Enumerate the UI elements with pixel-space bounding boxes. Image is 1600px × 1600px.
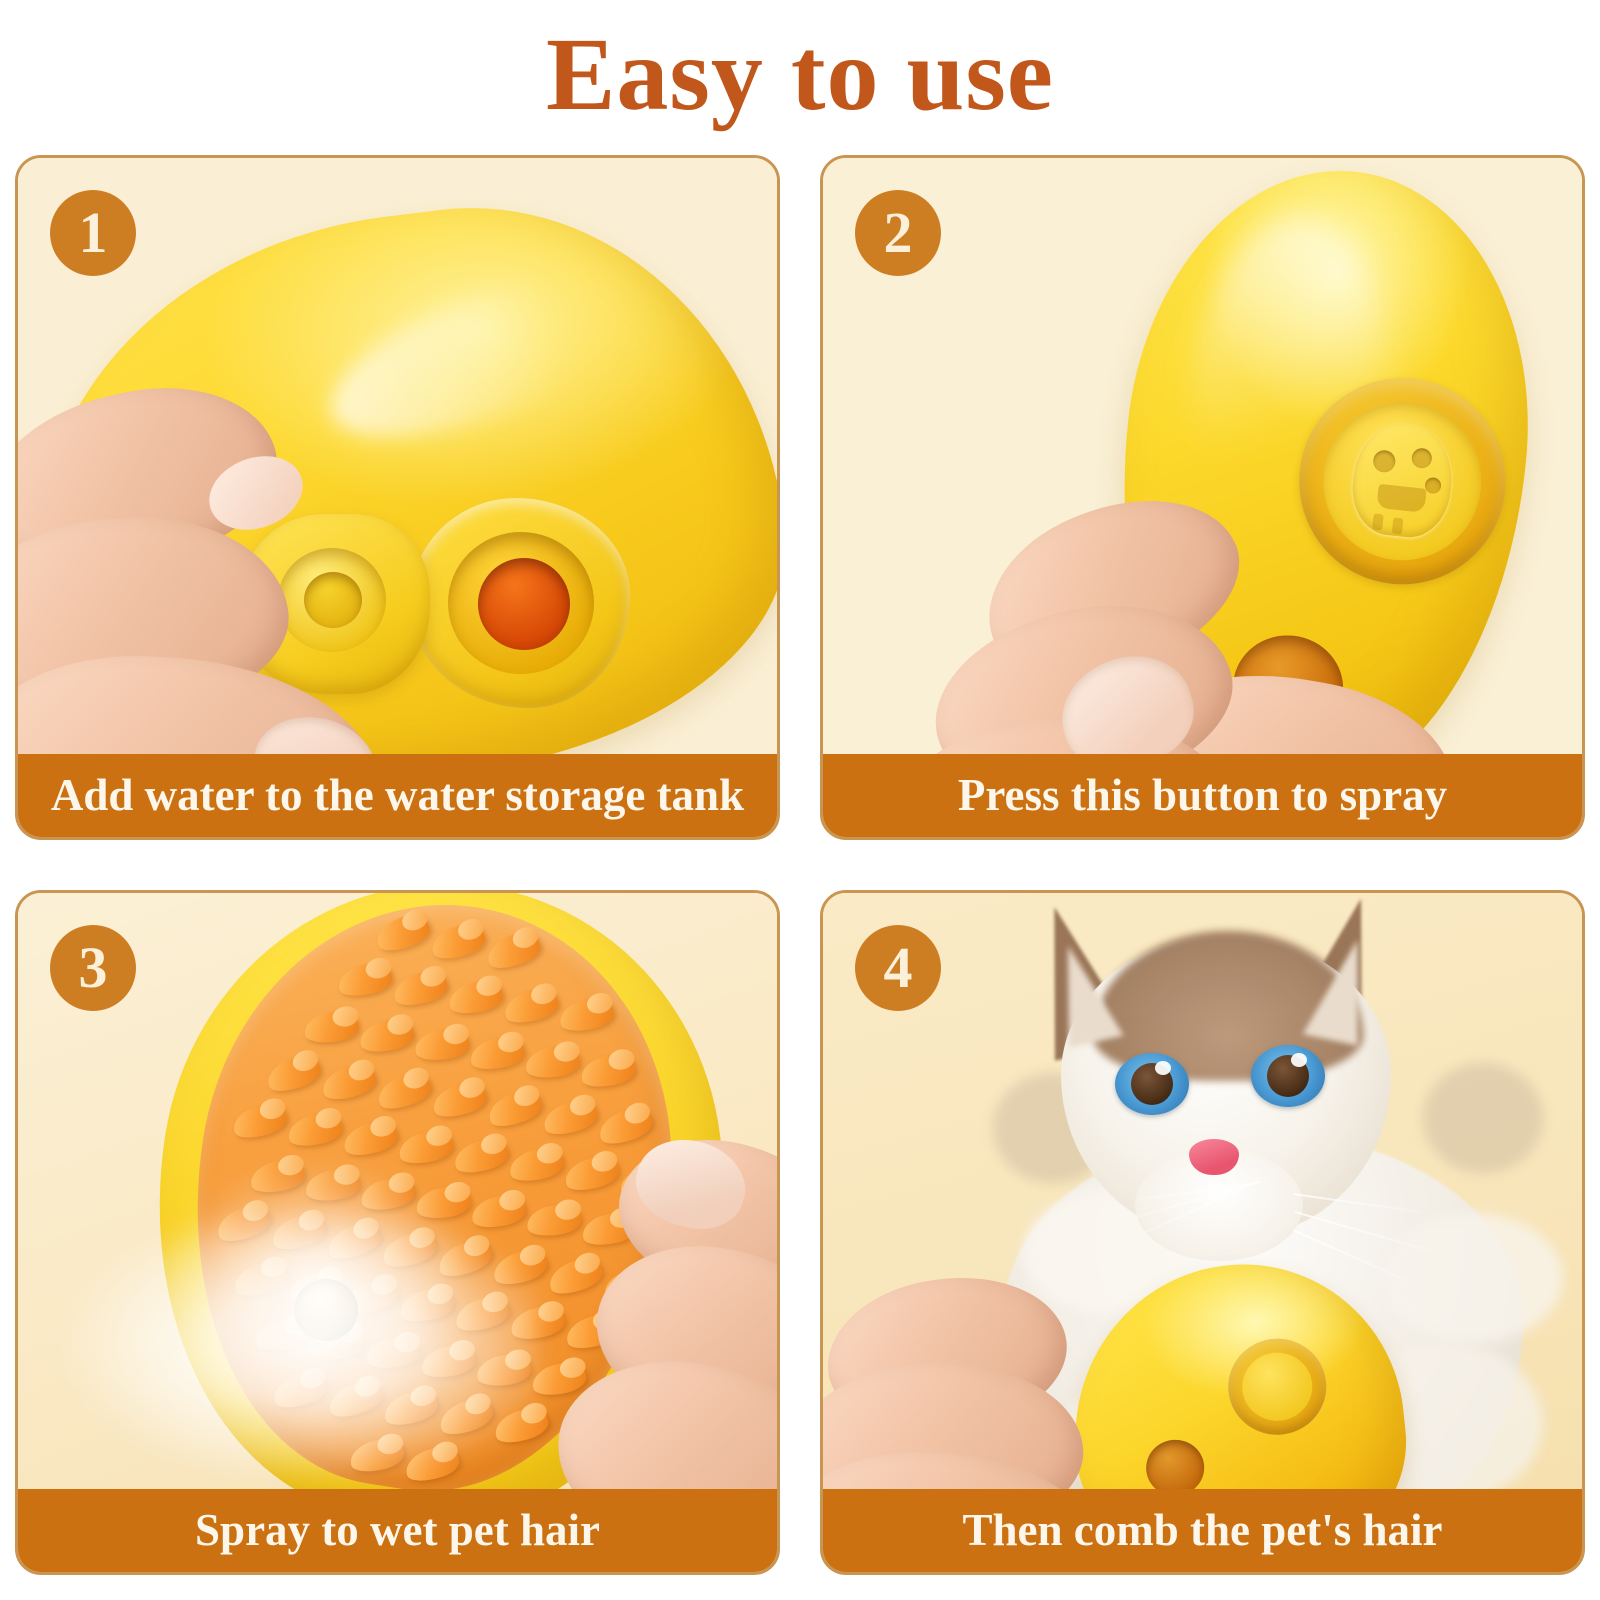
face-mouth bbox=[1376, 484, 1426, 513]
amber-press-button bbox=[1143, 1437, 1207, 1495]
silicone-bristle bbox=[357, 1015, 416, 1056]
silicone-bristle bbox=[483, 927, 544, 974]
step-panel-4: 4 Then comb the pet's hair bbox=[820, 890, 1585, 1575]
step-number-badge-4: 4 bbox=[855, 925, 941, 1011]
step-number-badge-3: 3 bbox=[50, 925, 136, 1011]
cat-fur bbox=[1423, 1063, 1543, 1173]
silicone-bristle bbox=[446, 976, 506, 1018]
step-caption-1: Add water to the water storage tank bbox=[18, 754, 777, 837]
body-highlight bbox=[311, 240, 662, 470]
silicone-bristle bbox=[578, 1050, 637, 1091]
steps-grid: 1 Add water to the water storage tank bbox=[15, 155, 1585, 1585]
silicone-bristle bbox=[595, 1103, 656, 1150]
step-panel-3: 3 Spray to wet pet hair bbox=[15, 890, 780, 1575]
step-caption-3: Spray to wet pet hair bbox=[18, 1489, 777, 1572]
step-panel-1: 1 Add water to the water storage tank bbox=[15, 155, 780, 840]
silicone-bristle bbox=[540, 1095, 601, 1140]
silicone-bristle bbox=[529, 1358, 588, 1399]
spray-button bbox=[1224, 1334, 1331, 1440]
silicone-bristle bbox=[501, 984, 561, 1028]
embossed-cartoon-face-icon bbox=[1348, 419, 1457, 541]
silicone-bristle bbox=[335, 959, 395, 1001]
step-caption-2: Press this button to spray bbox=[823, 754, 1582, 837]
silicone-bristle bbox=[545, 1253, 606, 1300]
face-eye bbox=[1424, 477, 1442, 495]
steam-cloud bbox=[168, 1163, 468, 1383]
water-tank-opening bbox=[410, 498, 630, 708]
silicone-bristle bbox=[318, 1060, 379, 1105]
plug-ring bbox=[278, 548, 386, 652]
cat-eye-right bbox=[1251, 1045, 1325, 1107]
face-leg bbox=[1372, 513, 1384, 530]
silicone-bristle bbox=[556, 994, 616, 1036]
cat-fur bbox=[1383, 1213, 1563, 1343]
silicone-bristle bbox=[263, 1050, 324, 1097]
silicone-bristle bbox=[561, 1151, 621, 1195]
page-title: Easy to use bbox=[0, 0, 1600, 150]
step-panel-2: 2 Press this button to spray bbox=[820, 155, 1585, 840]
silicone-bristle bbox=[428, 919, 489, 964]
face-eye bbox=[1411, 447, 1433, 469]
silicone-bristle bbox=[285, 1109, 345, 1151]
silicone-bristle bbox=[373, 1068, 434, 1115]
silicone-bristle bbox=[467, 1033, 526, 1074]
face-eye bbox=[1372, 449, 1396, 473]
silicone-bristle bbox=[302, 1008, 360, 1047]
tank-hole bbox=[478, 558, 570, 650]
silicone-bristle bbox=[229, 1099, 289, 1143]
spray-button-inner bbox=[1315, 394, 1489, 568]
silicone-bristle bbox=[523, 1043, 581, 1082]
silicone-bristle bbox=[506, 1144, 566, 1186]
silicone-bristle bbox=[413, 1025, 471, 1064]
silicone-bristle bbox=[484, 1085, 545, 1132]
silicone-bristle bbox=[429, 1077, 490, 1122]
step-caption-4: Then comb the pet's hair bbox=[823, 1489, 1582, 1572]
silicone-bristle bbox=[372, 909, 433, 956]
tank-rim bbox=[448, 532, 594, 674]
face-leg bbox=[1392, 518, 1404, 535]
plug-hole bbox=[304, 572, 362, 628]
silicone-bristle bbox=[340, 1116, 400, 1160]
silicone-bristle bbox=[390, 966, 450, 1010]
cat-eye-left bbox=[1115, 1053, 1189, 1115]
step-number-badge-2: 2 bbox=[855, 190, 941, 276]
step-number-badge-1: 1 bbox=[50, 190, 136, 276]
spray-button-inner bbox=[1239, 1349, 1316, 1424]
